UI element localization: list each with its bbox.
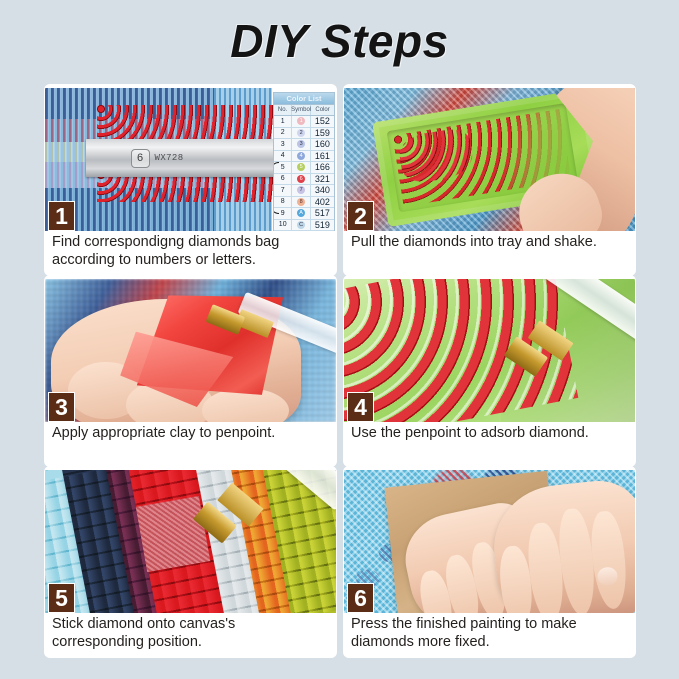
symbol-chip: 6 — [297, 175, 305, 183]
cell-color: 159 — [311, 128, 334, 139]
cell-color: 321 — [311, 174, 334, 185]
color-list-header-row: No. Symbol Color — [274, 105, 334, 116]
pointer-bracket — [273, 162, 279, 214]
symbol-chip: C — [297, 221, 305, 229]
step-badge-6: 6 — [347, 583, 374, 613]
header-symbol: Symbol — [292, 105, 311, 115]
step-badge-4: 4 — [347, 392, 374, 422]
symbol-chip: A — [297, 209, 305, 217]
table-row: 10 C 519 — [274, 220, 334, 232]
symbol-chip: 1 — [297, 117, 305, 125]
bag-code-label: WX728 — [155, 153, 184, 163]
table-row: 3 3 160 — [274, 139, 334, 151]
step-card-4[interactable]: 4 Use the penpoint to adsorb diamond. — [344, 276, 635, 466]
step-badge-5: 5 — [48, 583, 75, 613]
cell-symbol: 2 — [292, 128, 310, 139]
photo6-artwork: e Boo — [344, 470, 635, 613]
step-card-6[interactable]: e Boo 6 — [344, 467, 635, 657]
step-caption-1: Find correspondigng diamonds bag accordi… — [45, 231, 336, 275]
cell-color: 166 — [311, 162, 334, 173]
cell-no: 4 — [274, 151, 292, 162]
leader-line-horizontal — [273, 101, 274, 102]
header-color: Color — [311, 105, 334, 115]
header-no: No. — [274, 105, 292, 115]
cell-color: 517 — [311, 208, 334, 219]
photo5-artwork — [45, 470, 336, 613]
step-card-2[interactable]: 2 Pull the diamonds into tray and shake. — [344, 85, 635, 275]
table-row: 5 5 166 — [274, 162, 334, 174]
diamond-bag: 6 WX728 — [86, 139, 290, 176]
cell-symbol: 4 — [292, 151, 310, 162]
finger — [588, 510, 630, 611]
step-badge-1: 1 — [48, 201, 75, 231]
cell-symbol: 8 — [292, 197, 310, 208]
step-photo-6: e Boo 6 — [344, 470, 635, 613]
cell-color: 152 — [311, 116, 334, 127]
cell-symbol: A — [292, 208, 310, 219]
symbol-chip: 5 — [297, 163, 305, 171]
table-row: 8 8 402 — [274, 197, 334, 209]
step-photo-5: 5 — [45, 470, 336, 613]
bag-number-label: 6 — [131, 149, 150, 168]
photo2-artwork — [344, 88, 635, 231]
diamond-highlights — [344, 279, 577, 422]
diy-steps-infographic: DIY Steps 6 WX728 — [0, 0, 679, 679]
photo4-artwork — [344, 279, 635, 422]
step-photo-4: 4 — [344, 279, 635, 422]
symbol-chip: 4 — [297, 152, 305, 160]
step-photo-3: 3 — [45, 279, 336, 422]
cell-symbol: 3 — [292, 139, 310, 150]
step-photo-2: 2 — [344, 88, 635, 231]
cell-symbol: 1 — [292, 116, 310, 127]
page-title: DIY Steps — [0, 14, 679, 68]
cell-no: 2 — [274, 128, 292, 139]
step-card-5[interactable]: 5 Stick diamond onto canvas's correspond… — [45, 467, 336, 657]
cell-color: 161 — [311, 151, 334, 162]
step-badge-2: 2 — [347, 201, 374, 231]
symbol-chip: 7 — [297, 186, 305, 194]
steps-grid: 6 WX728 Color List No. Symbol Color — [45, 85, 635, 657]
cell-symbol: 7 — [292, 185, 310, 196]
table-row: 1 1 152 — [274, 116, 334, 128]
step-caption-4: Use the penpoint to adsorb diamond. — [344, 422, 635, 466]
color-list-title: Color List — [274, 93, 334, 105]
cell-no: 1 — [274, 116, 292, 127]
step-caption-2: Pull the diamonds into tray and shake. — [344, 231, 635, 275]
table-row: 6 6 321 — [274, 174, 334, 186]
symbol-chip: 8 — [297, 198, 305, 206]
cell-symbol: 5 — [292, 162, 310, 173]
step-caption-6: Press the finished painting to make diam… — [344, 613, 635, 657]
cell-color: 402 — [311, 197, 334, 208]
cell-symbol: 6 — [292, 174, 310, 185]
table-row: 7 7 340 — [274, 185, 334, 197]
cell-no: 10 — [274, 220, 292, 231]
bare-canvas-patch — [136, 496, 210, 572]
step-badge-3: 3 — [48, 392, 75, 422]
table-row: 4 4 161 — [274, 151, 334, 163]
photo3-artwork — [45, 279, 336, 422]
table-row: 2 2 159 — [274, 128, 334, 140]
table-row: 9 A 517 — [274, 208, 334, 220]
symbol-chip: 3 — [297, 140, 305, 148]
red-diamonds-upper — [97, 105, 283, 139]
cell-symbol: C — [292, 220, 310, 231]
step-caption-5: Stick diamond onto canvas's correspondin… — [45, 613, 336, 657]
step-card-1[interactable]: 6 WX728 Color List No. Symbol Color — [45, 85, 336, 275]
step-photo-1: 6 WX728 Color List No. Symbol Color — [45, 88, 336, 231]
cell-color: 340 — [311, 185, 334, 196]
cell-color: 160 — [311, 139, 334, 150]
photo1-artwork: 6 WX728 Color List No. Symbol Color — [45, 88, 336, 231]
cell-color: 519 — [311, 220, 334, 231]
step-card-3[interactable]: 3 Apply appropriate clay to penpoint. — [45, 276, 336, 466]
step-caption-3: Apply appropriate clay to penpoint. — [45, 422, 336, 466]
color-list-table: Color List No. Symbol Color 1 1 152 2 — [273, 92, 335, 231]
cell-no: 3 — [274, 139, 292, 150]
symbol-chip: 2 — [297, 129, 305, 137]
